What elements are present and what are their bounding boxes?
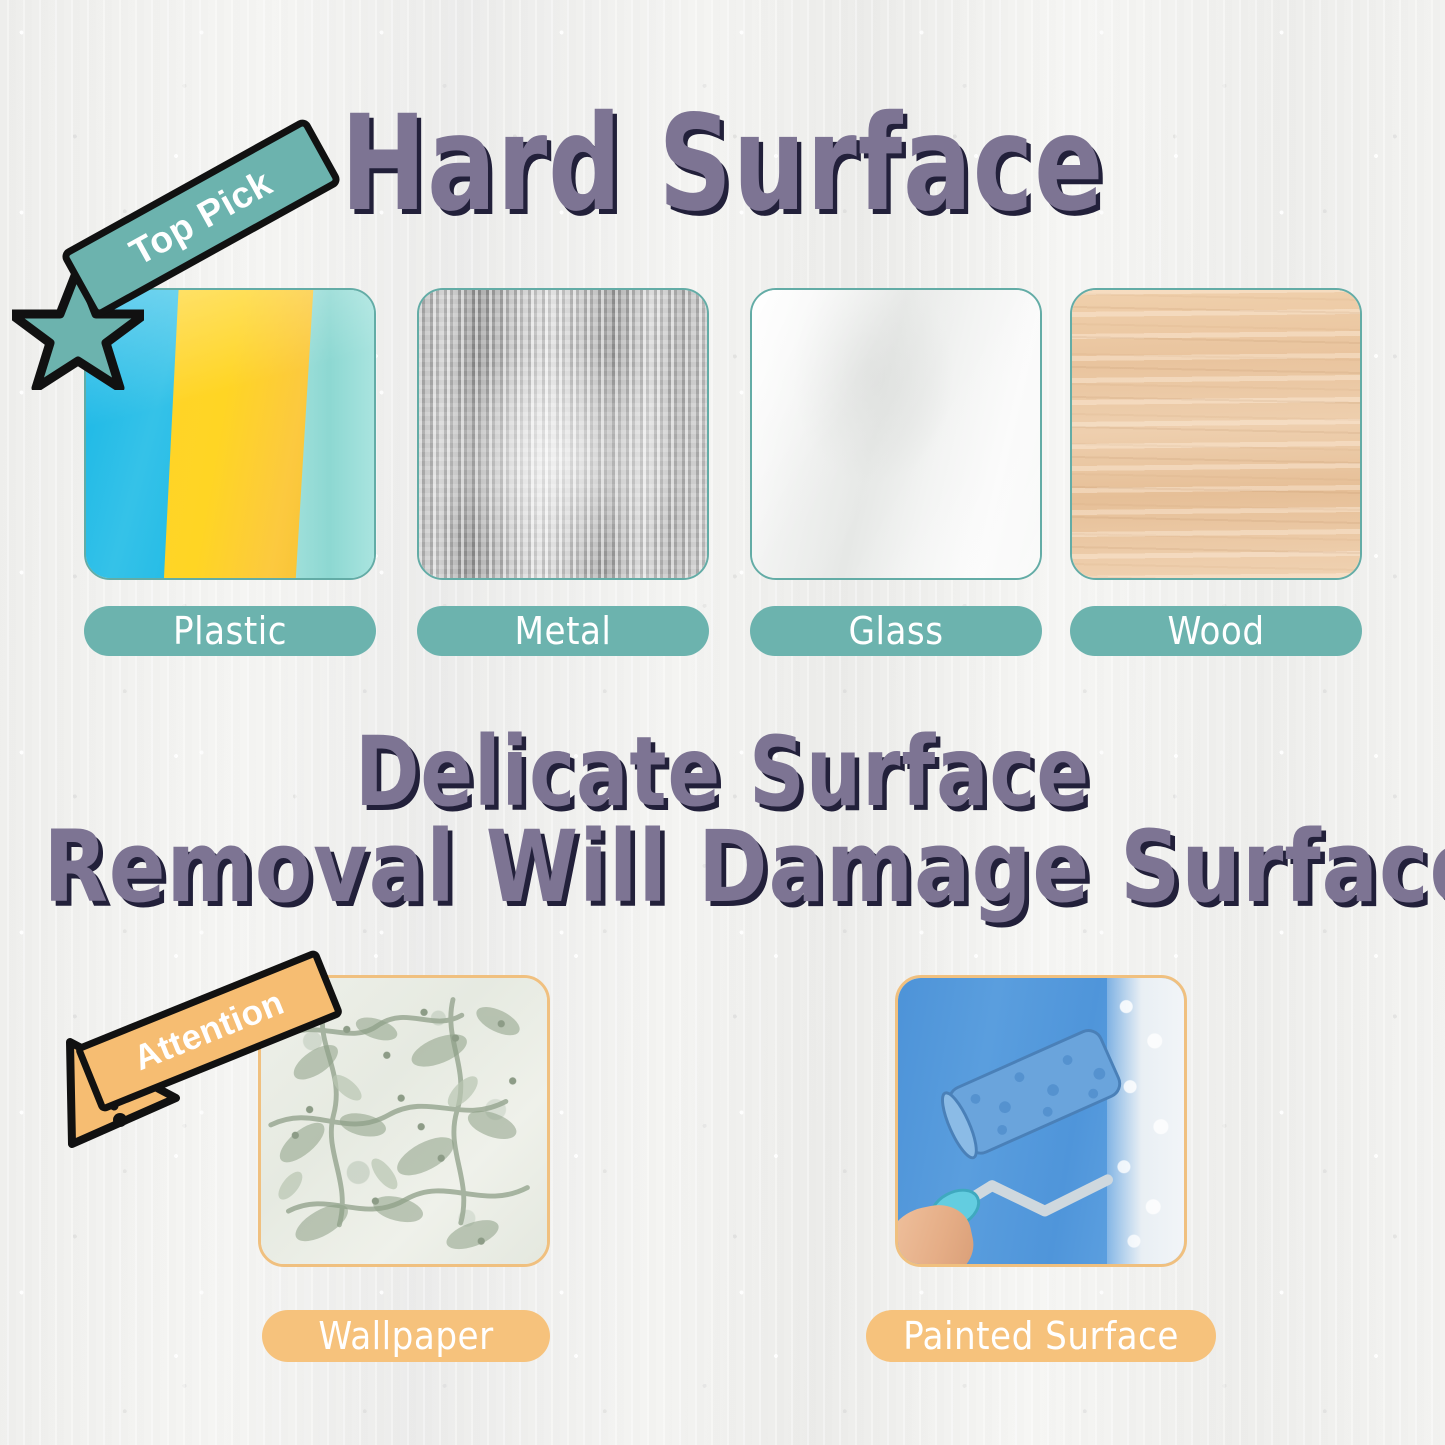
label-metal: Metal xyxy=(417,606,709,656)
glass-swatch xyxy=(750,288,1042,580)
label-wood: Wood xyxy=(1070,606,1362,656)
label-glass: Glass xyxy=(750,606,1042,656)
page-title-delicate-surface: Delicate Surface xyxy=(72,724,1373,820)
label-painted-surface: Painted Surface xyxy=(866,1310,1216,1362)
label-wallpaper: Wallpaper xyxy=(262,1310,550,1362)
painted-surface-photo xyxy=(895,975,1187,1267)
wood-swatch xyxy=(1070,288,1362,580)
label-plastic: Plastic xyxy=(84,606,376,656)
page-subtitle-removal-warning: Removal Will Damage Surface xyxy=(43,818,1401,917)
metal-swatch xyxy=(417,288,709,580)
